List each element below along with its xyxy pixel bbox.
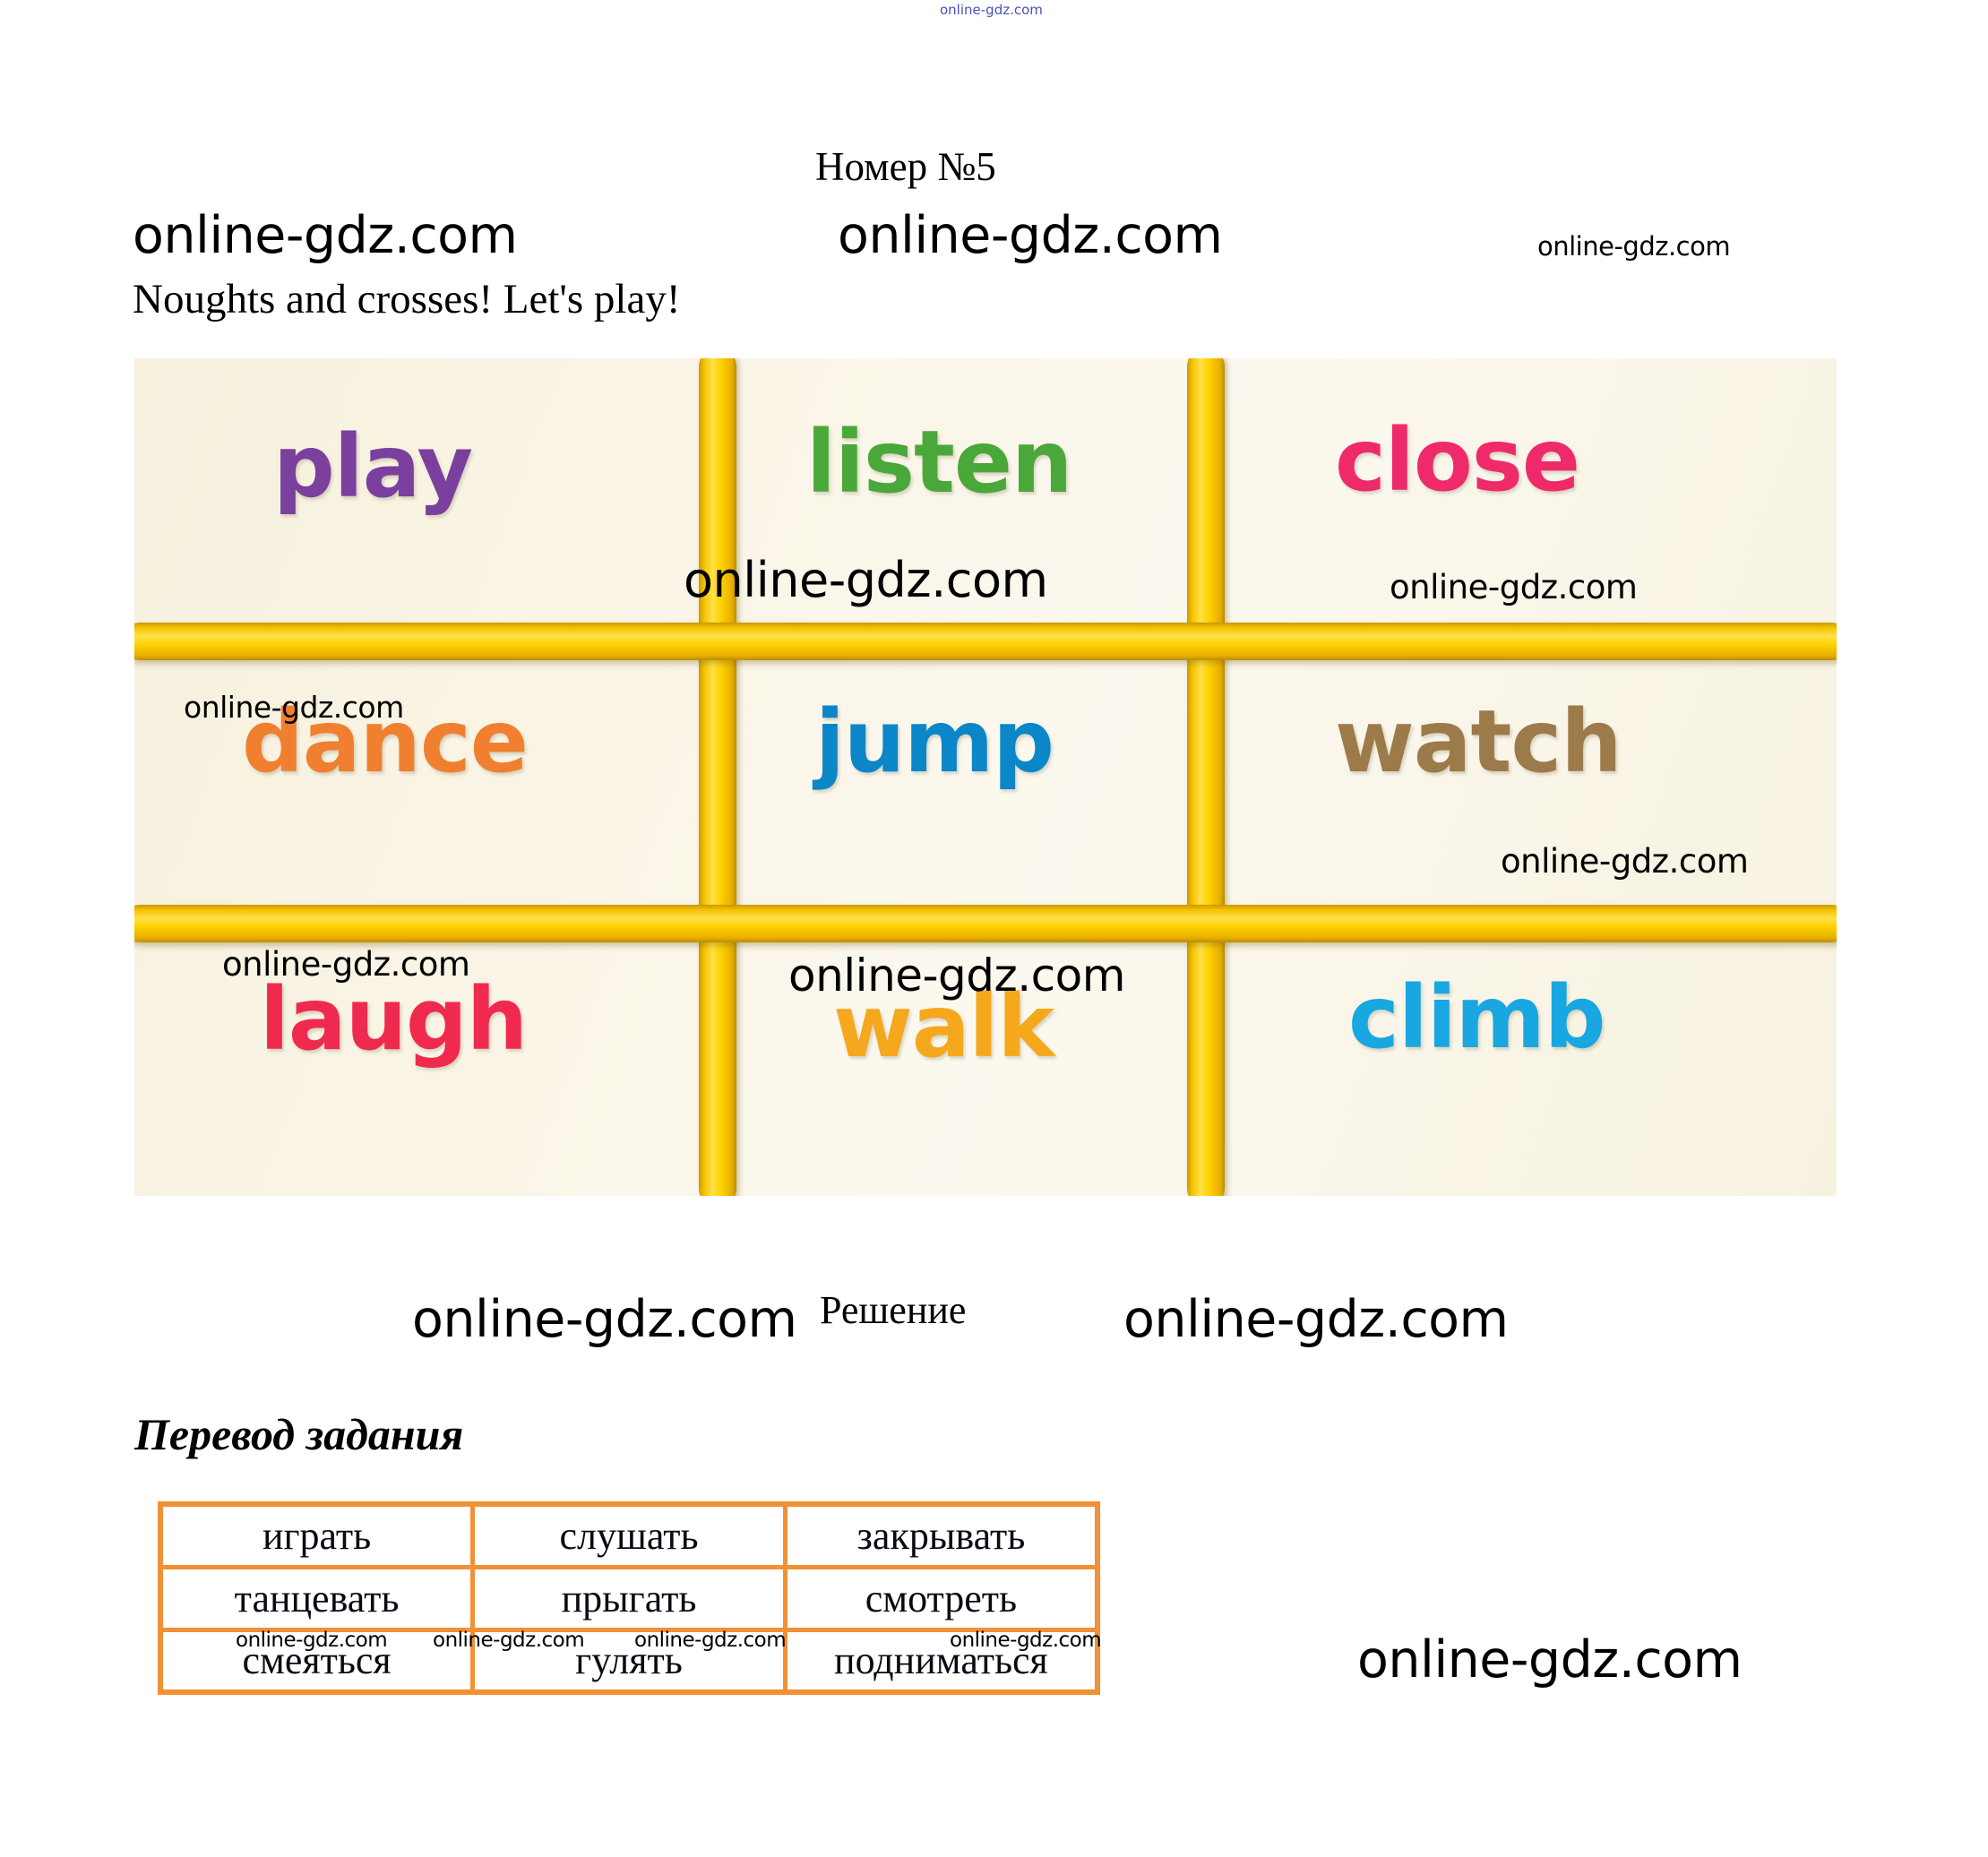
table-row: танцевать прыгать смотреть [160, 1567, 1097, 1629]
watermark-grid-3: online-gdz.com [184, 690, 404, 725]
grid-cell-close[interactable]: close [1335, 410, 1579, 511]
table-cell-slushat: слушать [473, 1504, 786, 1567]
grid-cell-climb[interactable]: climb [1348, 967, 1605, 1068]
grid-horizontal-bar-top [134, 623, 1837, 660]
watermark-header-left: online-gdz.com [133, 206, 518, 265]
watermark-grid-2: online-gdz.com [1390, 568, 1637, 606]
watermark-table-2: online-gdz.com [433, 1629, 584, 1652]
translation-table: играть слушать закрывать танцевать прыга… [158, 1501, 1100, 1695]
table-cell-prygat: прыгать [473, 1567, 786, 1629]
grid-horizontal-bar-bottom [134, 905, 1837, 942]
translation-heading: Перевод задания [134, 1408, 463, 1460]
grid-vertical-bar-right [1187, 358, 1225, 1196]
table-row: играть слушать закрывать [160, 1504, 1097, 1567]
page-title: Номер №5 [815, 143, 996, 190]
table-cell-tancevat: танцевать [160, 1567, 473, 1629]
task-instruction-text: Noughts and crosses! Let's play! [133, 275, 681, 323]
grid-cell-jump[interactable]: jump [815, 692, 1054, 792]
watermark-header-right: online-gdz.com [1537, 231, 1730, 262]
grid-cell-watch[interactable]: watch [1335, 692, 1622, 792]
watermark-grid-4: online-gdz.com [1501, 842, 1748, 881]
grid-vertical-bar-left [699, 358, 736, 1196]
watermark-table-3: online-gdz.com [634, 1629, 786, 1652]
grid-cell-laugh[interactable]: laugh [260, 969, 527, 1070]
watermark-grid-5: online-gdz.com [222, 945, 469, 984]
watermark-top: online-gdz.com [940, 2, 1043, 18]
solution-heading: Решение [820, 1287, 966, 1333]
table-cell-zakryvat: закрывать [785, 1504, 1097, 1567]
word-grid-figure: play listen close dance jump watch laugh… [134, 358, 1837, 1196]
table-cell-smotret: смотреть [785, 1567, 1097, 1629]
watermark-bottom-right: online-gdz.com [1357, 1630, 1743, 1689]
watermark-solution-left: online-gdz.com [412, 1290, 797, 1349]
watermark-grid-1: online-gdz.com [684, 552, 1048, 608]
watermark-header-center: online-gdz.com [838, 206, 1223, 265]
watermark-table-1: online-gdz.com [236, 1629, 387, 1652]
grid-cell-play[interactable]: play [273, 417, 472, 517]
grid-cell-listen[interactable]: listen [806, 412, 1071, 512]
watermark-grid-6: online-gdz.com [788, 950, 1125, 1002]
table-cell-igrat: играть [160, 1504, 473, 1567]
watermark-table-4: online-gdz.com [950, 1629, 1101, 1652]
watermark-solution-right: online-gdz.com [1123, 1290, 1509, 1349]
